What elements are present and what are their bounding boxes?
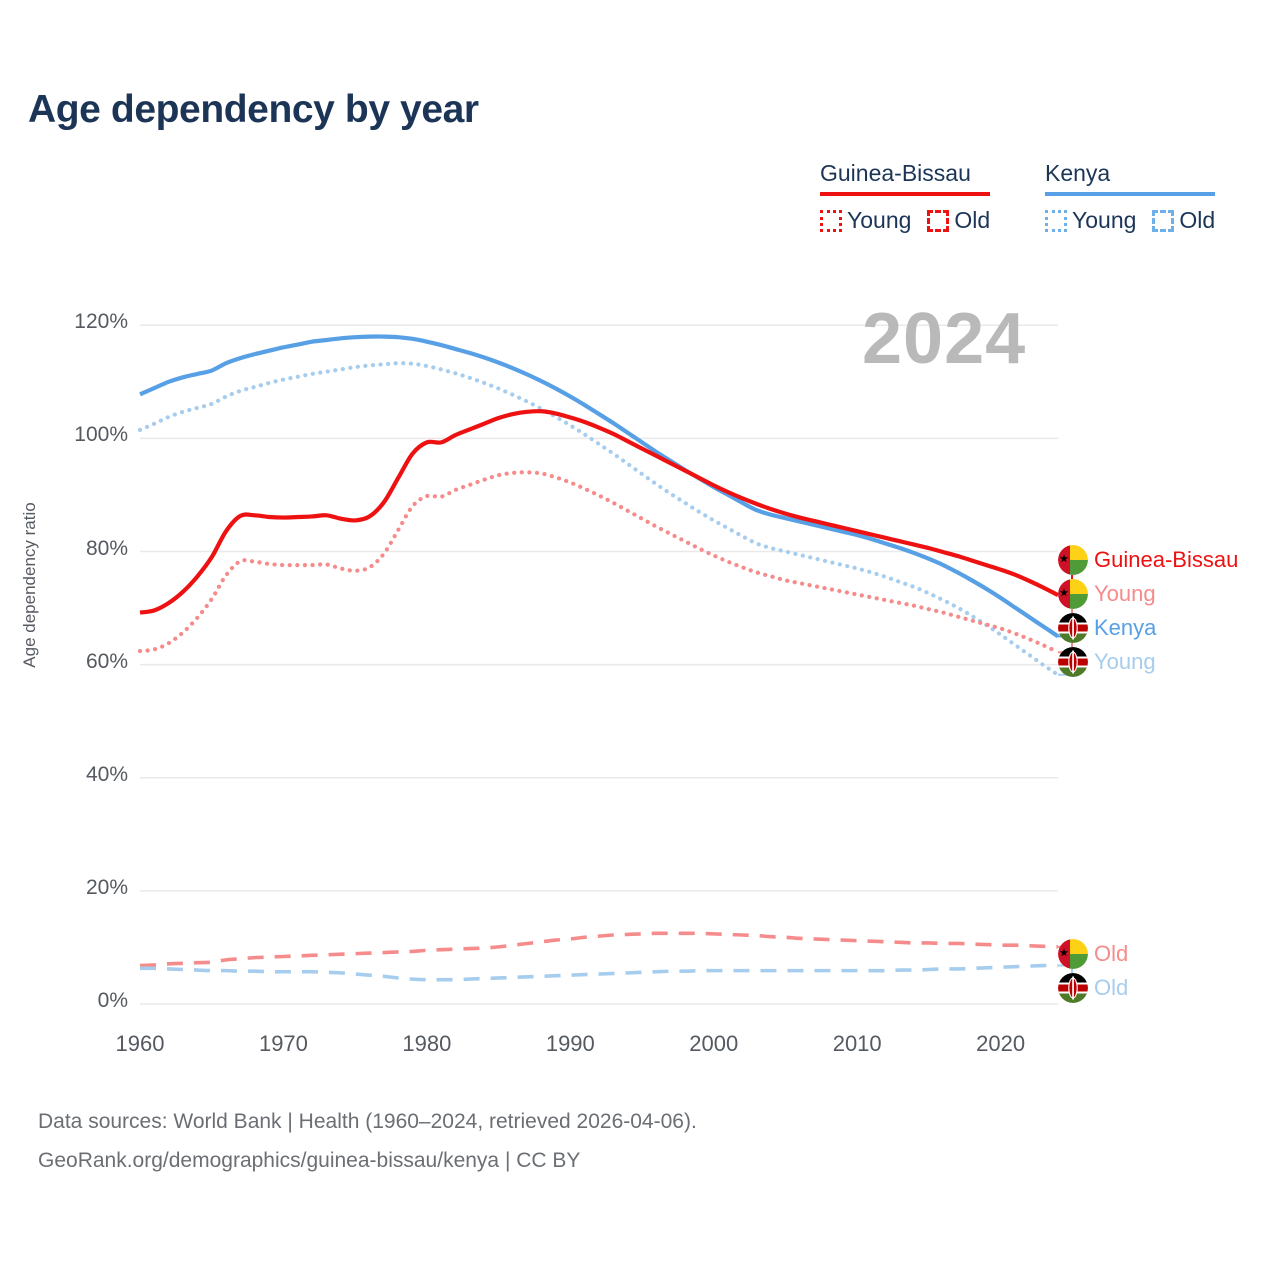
x-axis-tick-label: 2000: [654, 1031, 774, 1057]
y-axis-tick-label: 120%: [8, 310, 128, 334]
kenya-flag-icon: [1058, 973, 1088, 1003]
x-axis-tick-label: 1970: [223, 1031, 343, 1057]
x-axis-tick-label: 1980: [367, 1031, 487, 1057]
chart-page: Age dependency by year Guinea-Bissau You…: [0, 0, 1280, 1280]
series-end-label[interactable]: Young: [1058, 647, 1156, 677]
series-end-label-text: Old: [1094, 975, 1128, 1001]
series-end-label-text: Young: [1094, 581, 1156, 607]
chart-plot-area: Age dependency ratio 0%20%40%60%80%100%1…: [0, 0, 1280, 1280]
y-axis-tick-label: 40%: [8, 763, 128, 787]
footer-data-sources: Data sources: World Bank | Health (1960–…: [38, 1110, 697, 1134]
x-axis-tick-label: 1960: [80, 1031, 200, 1057]
series-end-label[interactable]: Old: [1058, 973, 1128, 1003]
series-line: [140, 965, 1058, 979]
series-end-label-text: Old: [1094, 941, 1128, 967]
footer-attribution[interactable]: GeoRank.org/demographics/guinea-bissau/k…: [38, 1149, 580, 1173]
x-axis-tick-label: 1990: [510, 1031, 630, 1057]
y-axis-tick-label: 0%: [8, 989, 128, 1013]
y-axis-tick-label: 60%: [8, 650, 128, 674]
y-axis-tick-label: 20%: [8, 876, 128, 900]
series-end-label-text: Young: [1094, 649, 1156, 675]
y-axis-tick-label: 100%: [8, 423, 128, 447]
y-axis-tick-label: 80%: [8, 537, 128, 561]
series-line: [140, 411, 1058, 612]
x-axis-tick-label: 2020: [941, 1031, 1061, 1057]
series-end-label[interactable]: Old: [1058, 939, 1128, 969]
series-line: [140, 933, 1058, 965]
kenya-flag-icon: [1058, 647, 1088, 677]
year-watermark: 2024: [862, 298, 1026, 380]
guinea-bissau-flag-icon: [1058, 579, 1088, 609]
series-end-label[interactable]: Young: [1058, 579, 1156, 609]
kenya-flag-icon: [1058, 613, 1088, 643]
series-end-label[interactable]: Kenya: [1058, 613, 1156, 643]
series-end-label[interactable]: Guinea-Bissau: [1058, 545, 1238, 575]
series-end-label-text: Kenya: [1094, 615, 1156, 641]
series-end-label-text: Guinea-Bissau: [1094, 547, 1238, 573]
guinea-bissau-flag-icon: [1058, 545, 1088, 575]
x-axis-tick-label: 2010: [797, 1031, 917, 1057]
guinea-bissau-flag-icon: [1058, 939, 1088, 969]
series-line: [140, 472, 1058, 652]
